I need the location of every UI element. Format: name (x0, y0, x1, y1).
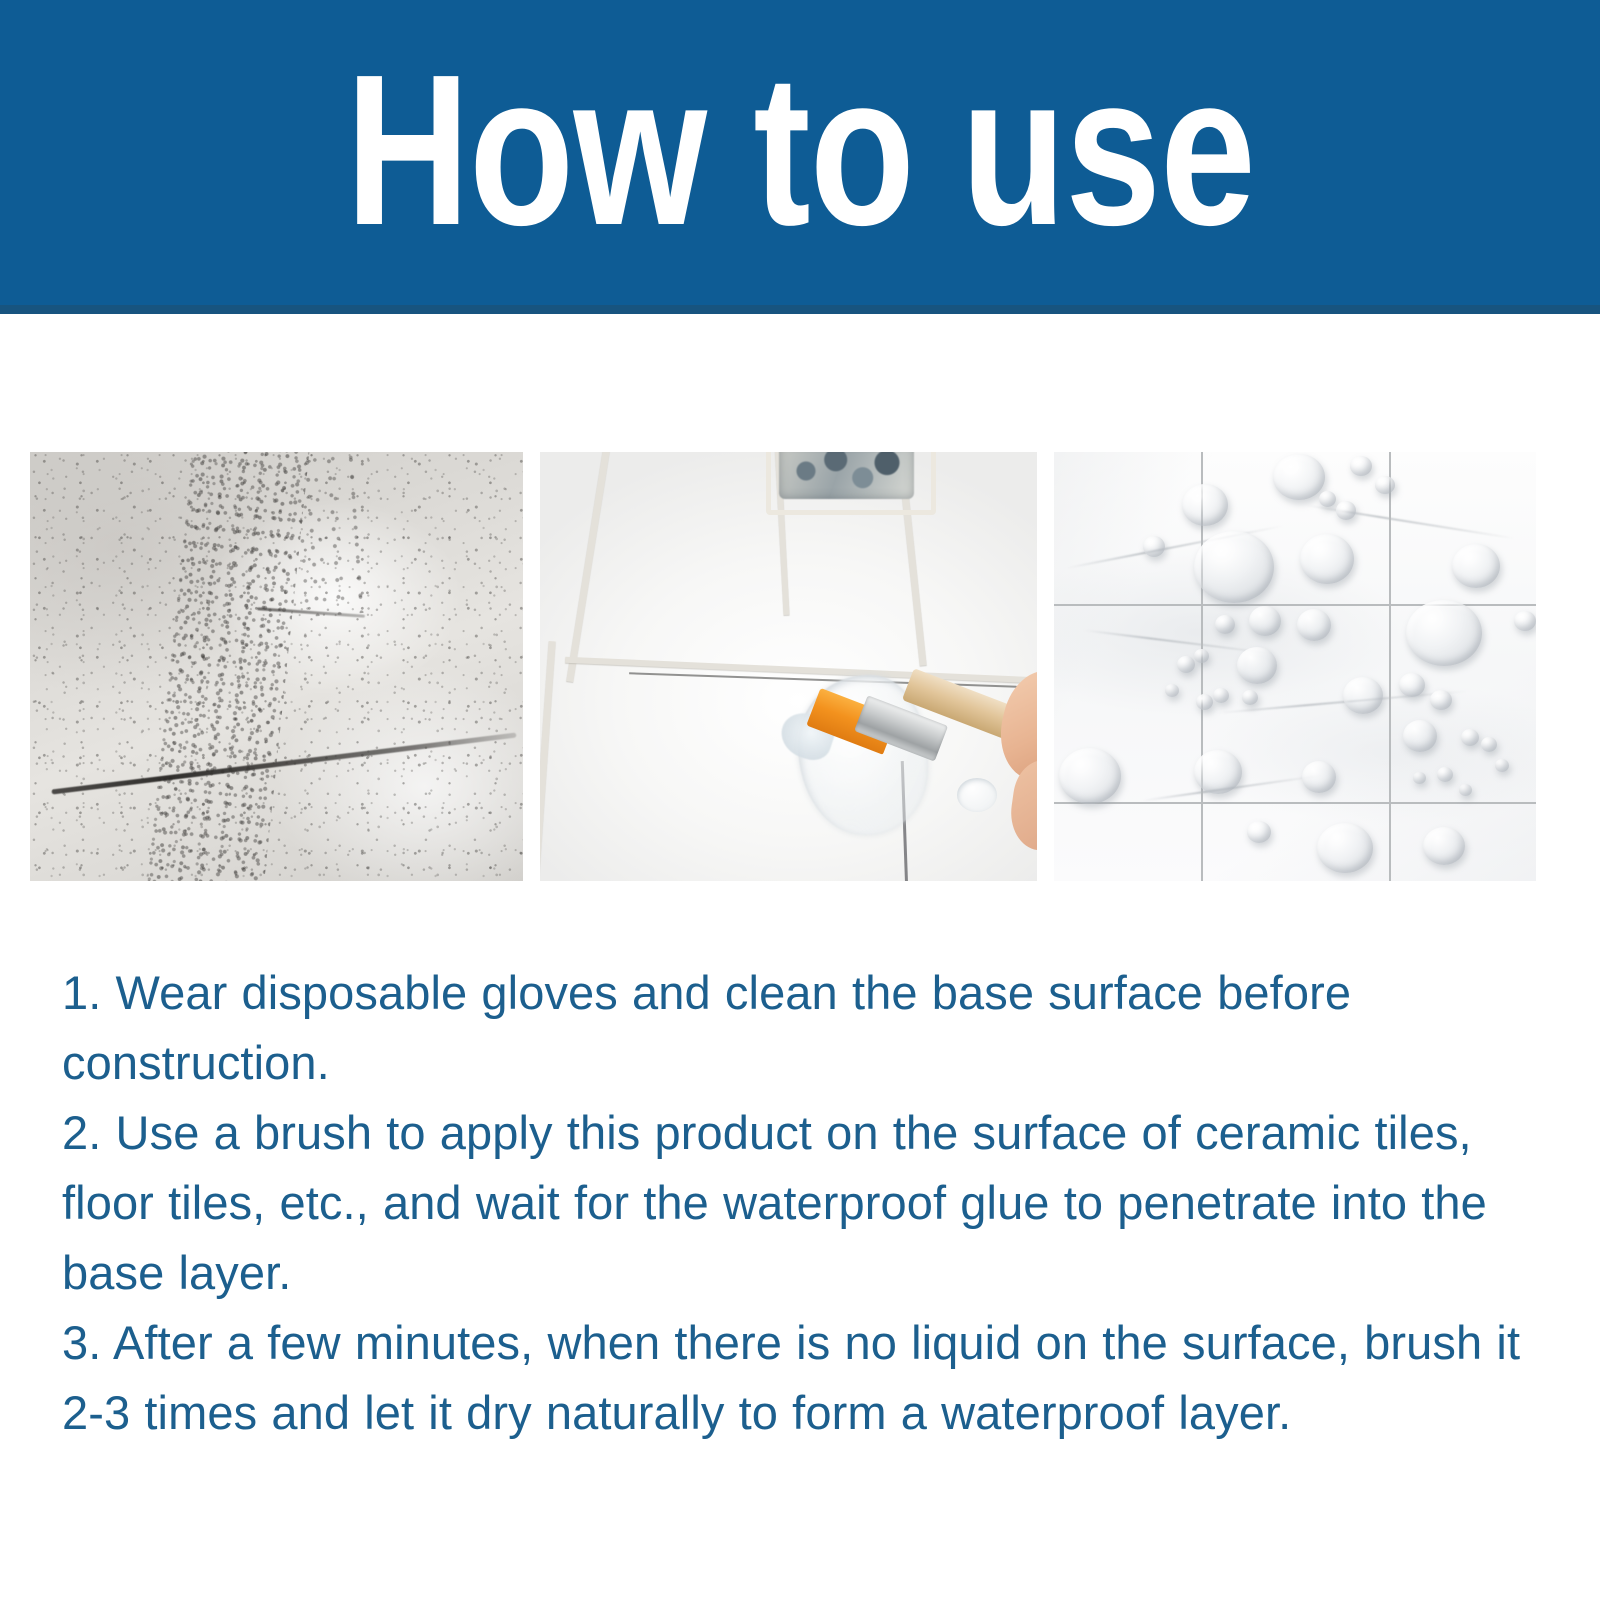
water-bead (1194, 531, 1274, 603)
water-bead (1413, 772, 1426, 784)
water-bead (1495, 759, 1509, 772)
water-bead (1143, 536, 1165, 557)
water-bead (1177, 656, 1195, 673)
page-title: How to use (345, 42, 1254, 257)
photo-cracked-concrete-surface (30, 452, 523, 881)
water-bead (1182, 484, 1228, 526)
water-bead (1059, 748, 1121, 804)
water-bead (1399, 673, 1425, 697)
marble-tile-base (1054, 452, 1536, 881)
photo-brush-applying-waterproof-glue (540, 452, 1037, 881)
water-bead (1165, 684, 1179, 697)
water-bead (1213, 688, 1229, 703)
water-bead (1430, 690, 1452, 710)
water-bead (1452, 544, 1500, 588)
water-bead (1247, 821, 1271, 843)
water-bead (1514, 611, 1536, 631)
water-bead (1406, 600, 1482, 666)
water-bead (1300, 534, 1354, 584)
water-bead (1461, 729, 1479, 746)
tile-joint-line (1389, 452, 1391, 881)
water-bead (1242, 690, 1258, 705)
water-bead (1194, 750, 1242, 794)
header-banner: How to use (0, 0, 1600, 305)
photo-row (30, 452, 1536, 881)
floor-drain (779, 452, 914, 499)
photo-water-beading-on-tiles (1054, 452, 1536, 881)
tile-joint-line (1054, 802, 1536, 804)
instruction-step-2: 2. Use a brush to apply this product on … (62, 1098, 1542, 1308)
water-bead (1375, 476, 1395, 494)
water-bead (1317, 823, 1373, 873)
concrete-rough-patch-secondary (290, 452, 371, 617)
water-bead (1319, 491, 1336, 507)
instructions-list: 1. Wear disposable gloves and clean the … (62, 958, 1542, 1448)
water-bead (1302, 761, 1336, 793)
water-bead (1297, 609, 1331, 641)
instruction-step-1: 1. Wear disposable gloves and clean the … (62, 958, 1542, 1098)
water-bead (1423, 827, 1465, 865)
instruction-step-3: 3. After a few minutes, when there is no… (62, 1308, 1542, 1448)
header-underline (0, 305, 1600, 314)
water-bead (1481, 737, 1497, 752)
